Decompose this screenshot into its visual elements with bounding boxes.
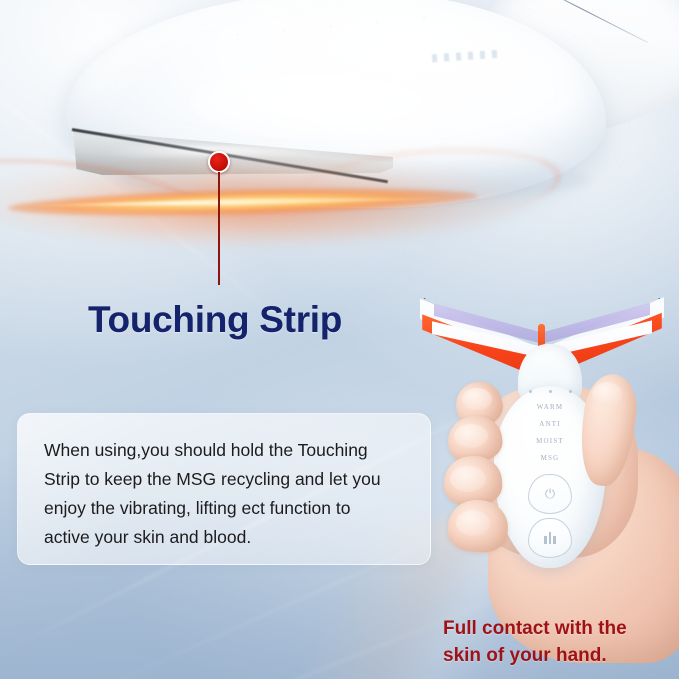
device-mode-labels: WARM ANTI MOIST MSG xyxy=(512,403,588,462)
fingernail xyxy=(454,424,488,448)
indicator-dots xyxy=(520,390,580,393)
touching-strip-metal xyxy=(70,126,393,176)
fingernail xyxy=(456,510,490,536)
mode-button[interactable] xyxy=(528,518,572,558)
level-bars-icon xyxy=(544,532,556,544)
hero-device-photo: · · · · · xyxy=(0,0,679,260)
device-mark: · xyxy=(422,13,426,22)
page-title: Touching Strip xyxy=(88,299,342,341)
description-text: When using,you should hold the Touching … xyxy=(44,436,404,552)
contact-caption: Full contact with the skin of your hand. xyxy=(443,615,627,669)
device-label-warm: WARM xyxy=(537,403,564,411)
indicator-dot xyxy=(569,390,572,393)
callout-leader-line xyxy=(218,172,220,285)
fingernail xyxy=(450,466,486,492)
product-infographic: · · · · · Touching Strip When using,you … xyxy=(0,0,679,679)
indicator-dot xyxy=(549,390,552,393)
callout-marker-dot xyxy=(208,151,230,173)
power-icon: ⏻ xyxy=(545,486,555,502)
thumbnail xyxy=(592,382,622,406)
device-label-moist: MOIST xyxy=(536,437,564,445)
device-label-msg: MSG xyxy=(541,454,560,462)
device-mark: · xyxy=(282,25,286,34)
device-mark: · xyxy=(236,30,240,39)
hand-holding-device-photo: WARM ANTI MOIST MSG ⏻ xyxy=(400,278,679,638)
power-button[interactable]: ⏻ xyxy=(528,474,572,514)
device-mark: · xyxy=(329,21,333,30)
device-mark: · xyxy=(376,17,380,26)
description-card: When using,you should hold the Touching … xyxy=(17,413,431,565)
indicator-dot xyxy=(529,390,532,393)
fingernail xyxy=(462,388,492,410)
device-label-anti: ANTI xyxy=(539,420,561,428)
